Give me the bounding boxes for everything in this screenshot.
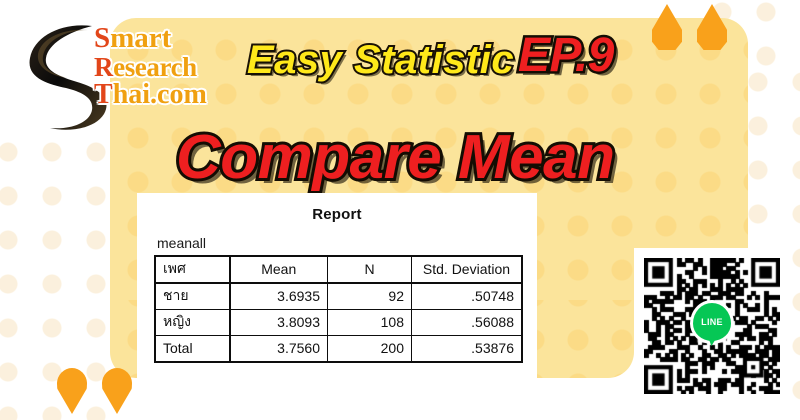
cell-category: หญิง [156, 310, 230, 336]
report-table: เพศ Mean N Std. Deviation ชาย 3.6935 92 … [155, 256, 522, 362]
cell-n: 200 [328, 336, 412, 362]
brand-word-thaicom: hai.com [113, 79, 207, 110]
cell-n: 108 [328, 310, 412, 336]
line-logo-icon: LINE [693, 303, 731, 341]
report-table-wrapper: เพศ Mean N Std. Deviation ชาย 3.6935 92 … [155, 256, 519, 362]
table-row: Total 3.7560 200 .53876 [156, 336, 522, 362]
cell-mean: 3.6935 [230, 283, 328, 310]
report-title: Report [137, 206, 537, 223]
cell-category: ชาย [156, 283, 230, 310]
brand-logo-line-1: Smart [94, 24, 256, 54]
cell-n: 92 [328, 283, 412, 310]
brand-initial-r: R [94, 52, 113, 82]
brand-initial-s: S [94, 22, 110, 54]
table-header-row: เพศ Mean N Std. Deviation [156, 257, 522, 284]
report-variable-name: meanall [157, 235, 537, 251]
hexagon-pattern-top-right [700, 0, 800, 80]
series-title: Easy Statistic [247, 38, 514, 83]
column-header-mean: Mean [230, 257, 328, 284]
column-header-category: เพศ [156, 257, 230, 284]
column-header-n: N [328, 257, 412, 284]
slide-canvas: Smart Research Thai.com Easy Statistic E… [0, 0, 800, 420]
column-header-std-deviation: Std. Deviation [412, 257, 522, 284]
brand-logo-line-3: Thai.com [94, 81, 256, 110]
brand-logo: Smart Research Thai.com [22, 18, 252, 136]
brand-logo-line-2: Research [94, 54, 256, 82]
page-title: Compare Mean [176, 122, 614, 193]
cell-mean: 3.8093 [230, 310, 328, 336]
droplet-decoration-bottom-left-2 [102, 368, 132, 414]
line-logo-label: LINE [701, 317, 723, 327]
brand-word-smart: mart [110, 22, 171, 54]
droplet-decoration-bottom-left-1 [57, 368, 87, 414]
cell-sd: .56088 [412, 310, 522, 336]
cell-category: Total [156, 336, 230, 362]
episode-badge: EP.9 [518, 28, 614, 83]
spss-report-card: Report meanall เพศ Mean N Std. Deviation [137, 193, 537, 380]
cell-sd: .53876 [412, 336, 522, 362]
cell-mean: 3.7560 [230, 336, 328, 362]
brand-logo-wordmark: Smart Research Thai.com [94, 24, 256, 110]
qr-code-card[interactable]: LINE [634, 248, 790, 408]
table-row: หญิง 3.8093 108 .56088 [156, 310, 522, 336]
brand-word-research: esearch [113, 52, 197, 82]
brand-initial-t: T [94, 79, 113, 110]
cell-sd: .50748 [412, 283, 522, 310]
droplet-decoration-top-right-2 [697, 4, 727, 50]
hexagon-pattern-left [0, 130, 106, 420]
table-row: ชาย 3.6935 92 .50748 [156, 283, 522, 310]
droplet-decoration-top-right-1 [652, 4, 682, 50]
